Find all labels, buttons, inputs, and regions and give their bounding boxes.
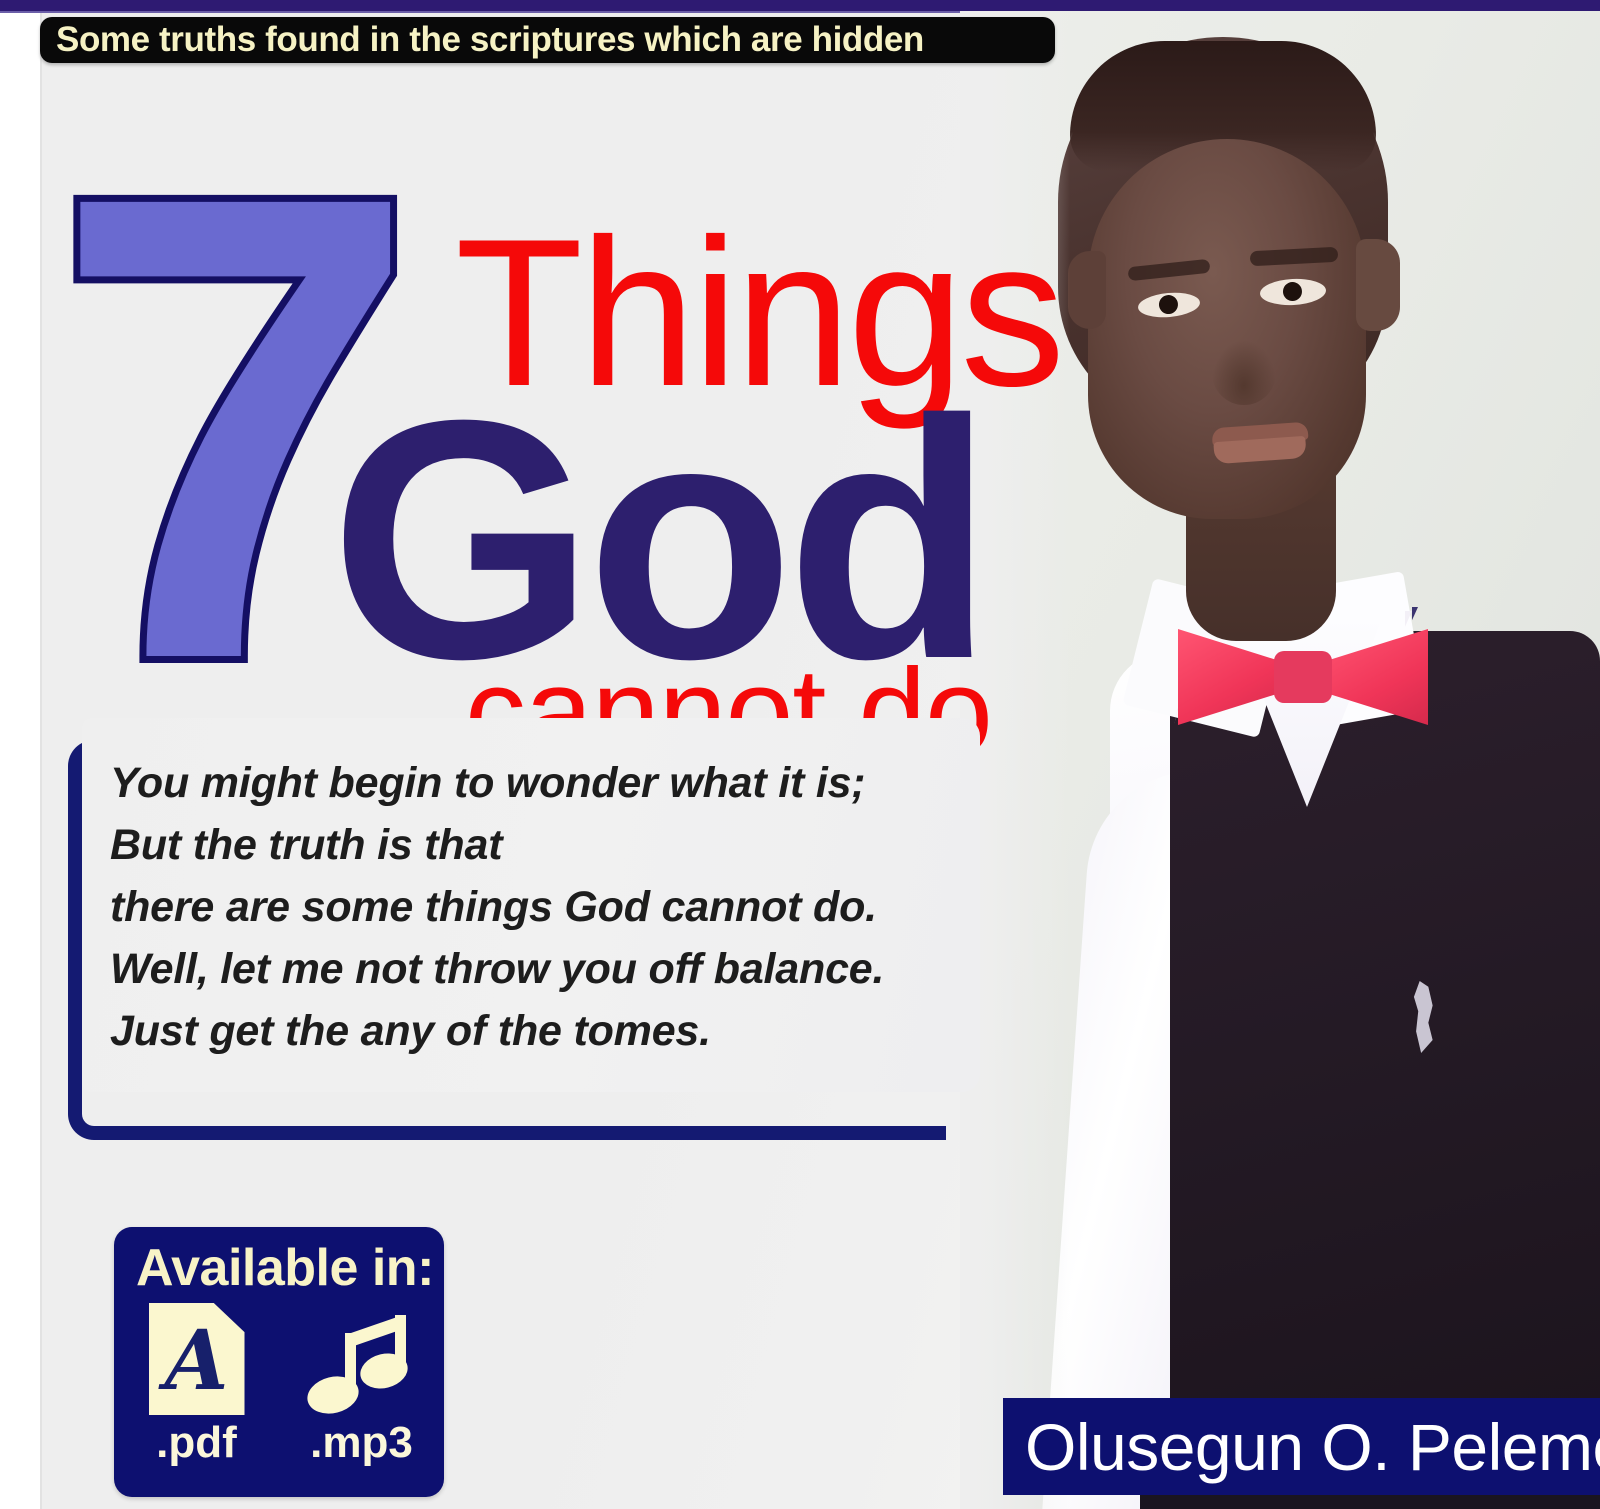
photo-bow-tie [1178,623,1428,731]
format-label-pdf: .pdf [127,1417,267,1469]
pdf-document-icon: A [149,1303,245,1415]
format-list: A .pdf .mp3 [114,1303,444,1469]
blurb-line: But the truth is that [110,814,962,876]
blurb-line: there are some things God cannot do. [110,876,962,938]
book-cover-poster: Some truths found in the scriptures whic… [0,0,1600,1509]
blurb-block: You might begin to wonder what it is; Bu… [68,740,983,1145]
photo-pupil-right [1282,282,1302,302]
blurb-line: Just get the any of the tomes. [110,1000,962,1062]
author-name: Olusegun O. Pelemo [1003,1411,1600,1483]
bow-tie-right-wing [1324,629,1428,725]
subtitle-banner: Some truths found in the scriptures whic… [40,17,1055,63]
photo-nose [1212,341,1276,405]
photo-pupil-left [1158,294,1179,315]
title-block: 7 Things God cannot do [0,80,1060,720]
pdf-icon-letter: A [149,1307,245,1415]
format-label-mp3: .mp3 [292,1417,432,1469]
blurb-line: You might begin to wonder what it is; [110,752,962,814]
bow-tie-knot [1274,651,1332,703]
format-item-mp3[interactable]: .mp3 [292,1303,432,1469]
blurb-panel: You might begin to wonder what it is; Bu… [82,718,980,1092]
photo-ear-right [1356,239,1400,331]
availability-heading: Available in: [136,1239,434,1297]
music-note-icon [307,1303,417,1415]
format-item-pdf[interactable]: A .pdf [127,1303,267,1469]
availability-box: Available in: A .pdf .m [114,1227,444,1497]
bow-tie-left-wing [1178,629,1282,725]
blurb-line: Well, let me not throw you off balance. [110,938,962,1000]
photo-ear-left [1068,251,1106,329]
subtitle-text: Some truths found in the scriptures whic… [40,20,924,60]
author-name-banner: Olusegun O. Pelemo [1003,1398,1600,1495]
